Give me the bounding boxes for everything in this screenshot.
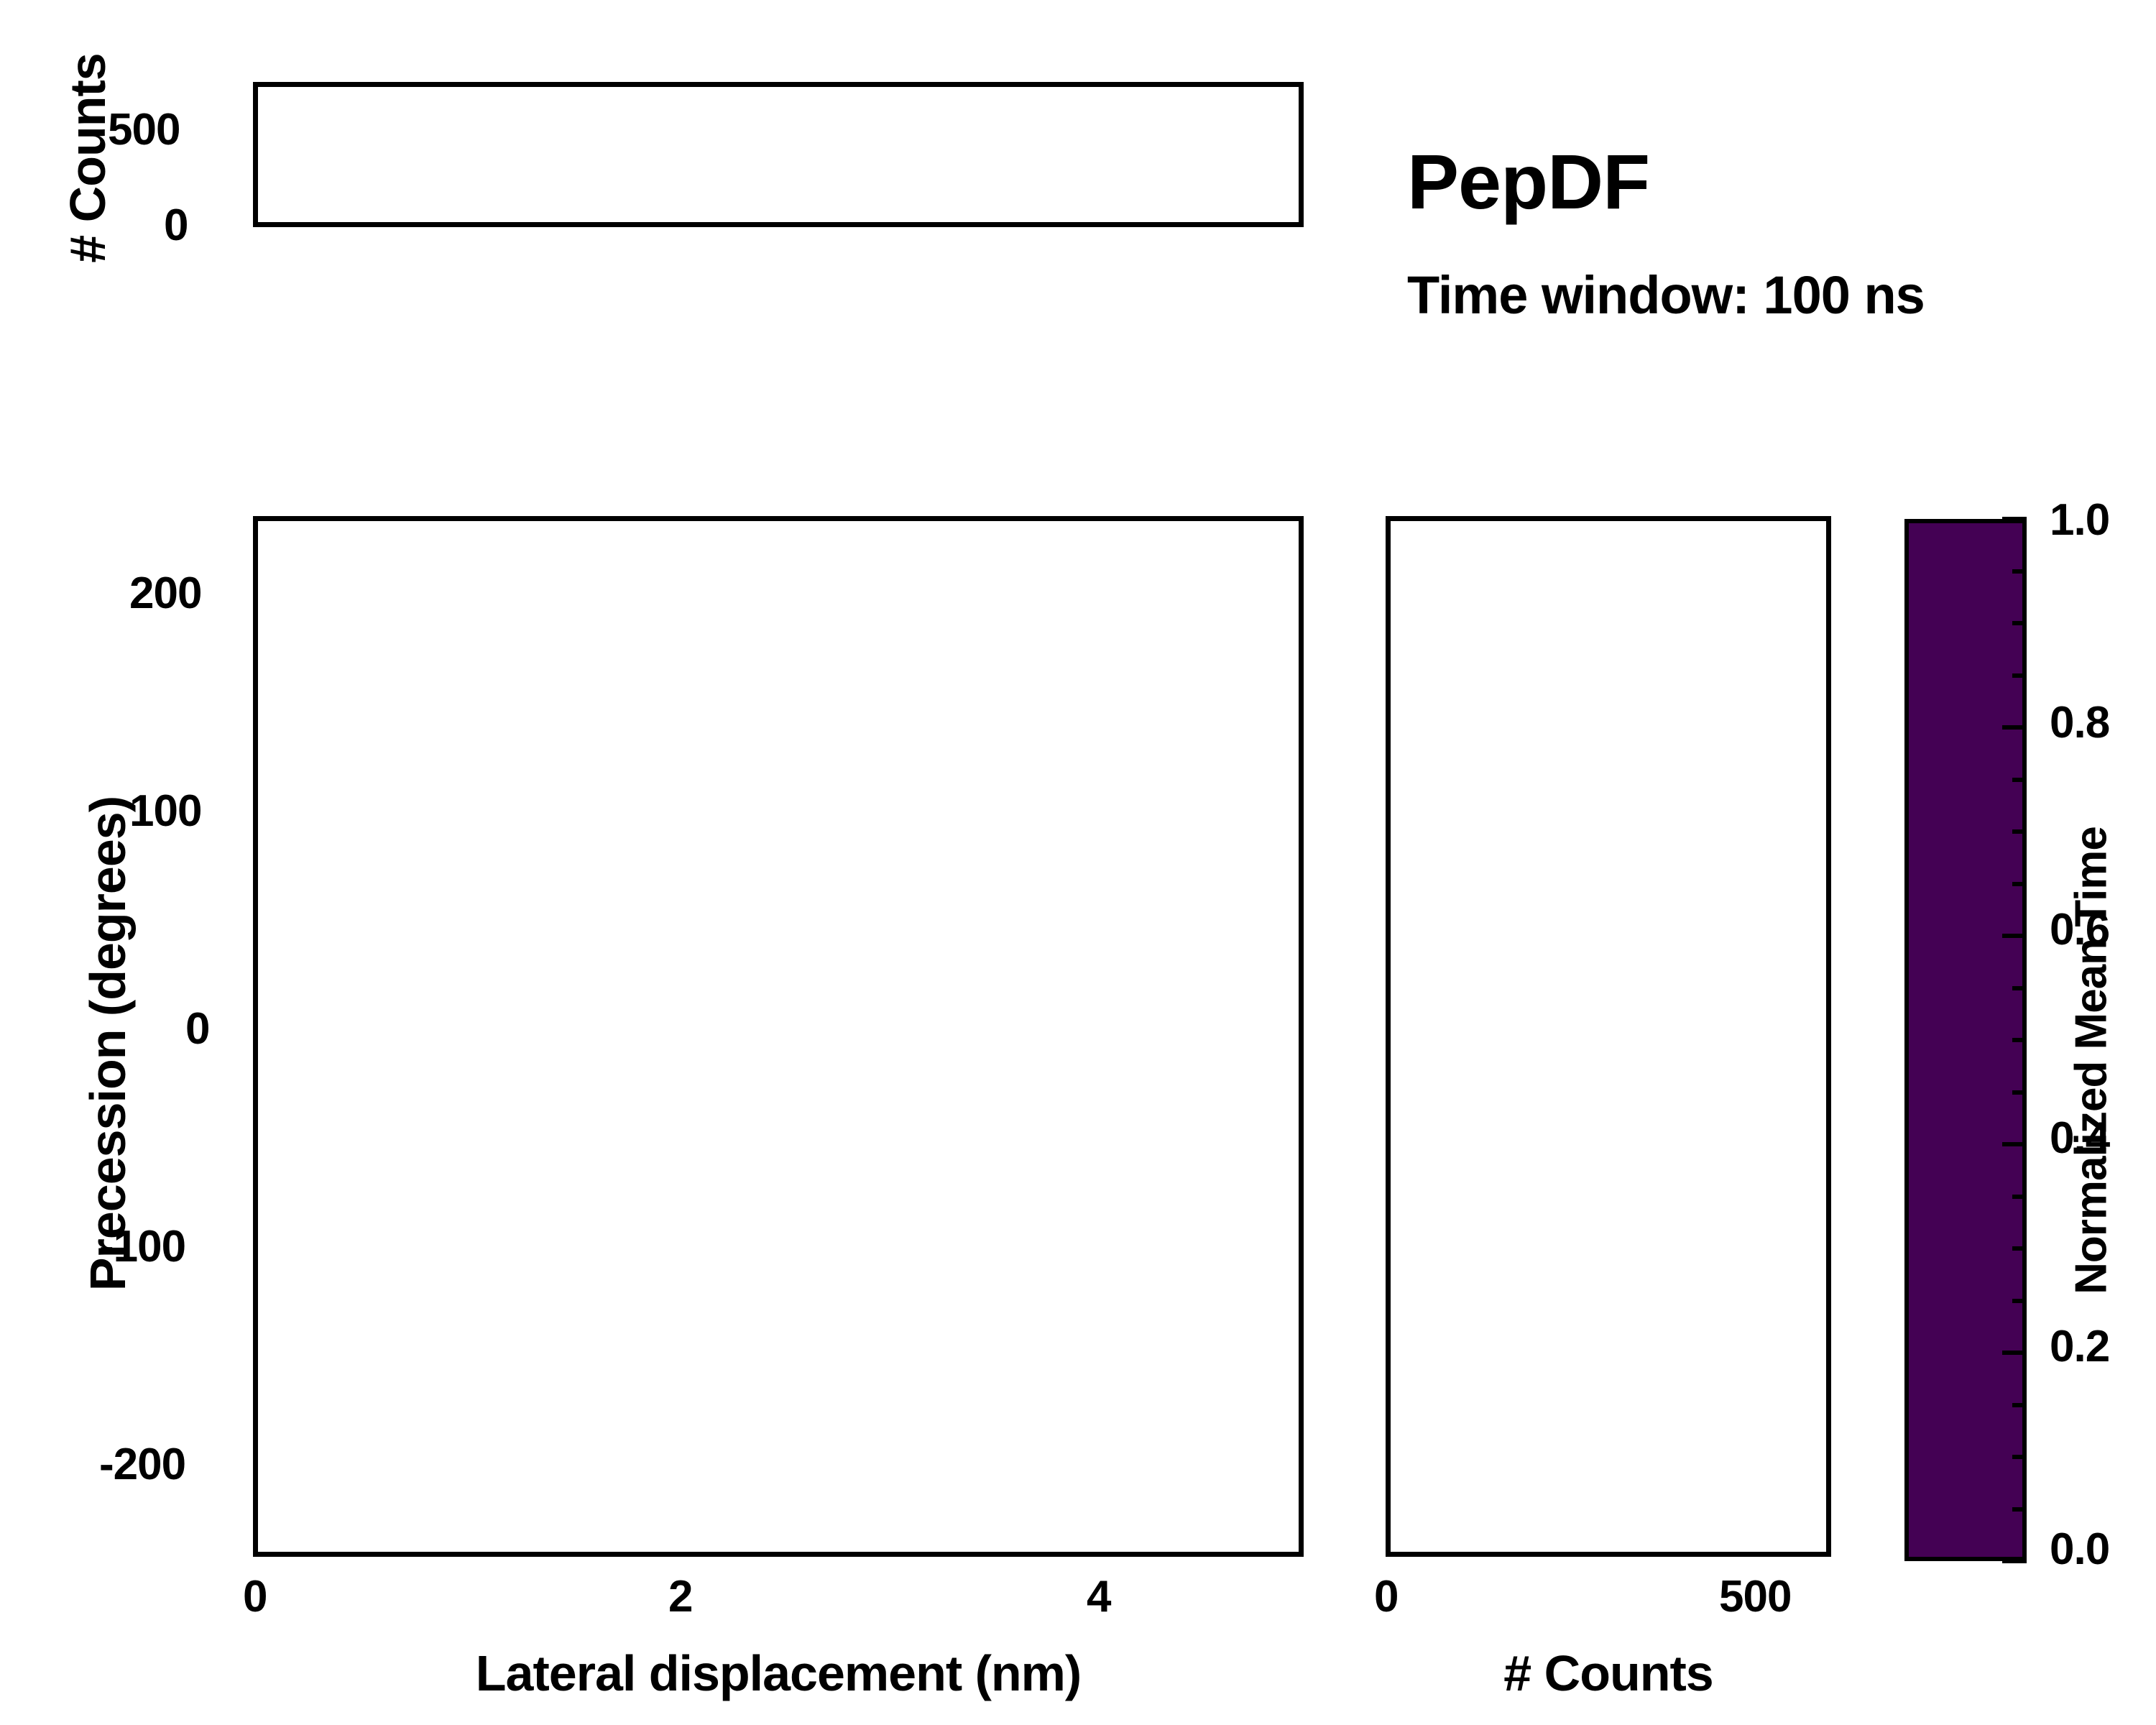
right-histogram-panel [1386, 516, 1831, 1557]
colorbar-tickmark [2012, 1246, 2027, 1251]
colorbar-tick-1-0: 1.0 [2050, 494, 2109, 546]
main-ylabel: Precession (degrees) [79, 505, 137, 1583]
colorbar-tickmark [2012, 778, 2027, 782]
joint-heatmap-canvas [258, 521, 1299, 1552]
right-histogram-xlabel: # Counts [1386, 1644, 1831, 1702]
colorbar-label: Normalized Mean Time [2066, 630, 2117, 1492]
colorbar-tickmark [2012, 986, 2027, 990]
main-xtick-2: 2 [668, 1571, 692, 1622]
colorbar-tickmark [2012, 1038, 2027, 1042]
top-histogram-ylabel: # Counts [59, 43, 116, 273]
colorbar-tickmark [2012, 1090, 2027, 1095]
top-histogram-panel [253, 82, 1304, 227]
colorbar-tickmark [2012, 673, 2027, 678]
colorbar-tickmark [2012, 621, 2027, 625]
colorbar-tickmark [2002, 725, 2027, 730]
main-heatmap-panel [253, 516, 1304, 1557]
right-hist-xtick-0: 0 [1374, 1571, 1398, 1622]
page-title: PepDF [1407, 137, 1649, 226]
colorbar [1904, 519, 2027, 1561]
colorbar-gradient [1909, 523, 2022, 1557]
colorbar-tickmark [2002, 934, 2027, 938]
main-ytick-0: 0 [185, 1003, 209, 1054]
colorbar-tickmark [2012, 1195, 2027, 1199]
top-hist-ytick-0: 0 [164, 200, 188, 251]
colorbar-tick-0-0: 0.0 [2050, 1524, 2109, 1575]
main-xtick-0: 0 [243, 1571, 267, 1622]
main-ytick-200: 200 [129, 568, 201, 619]
right-histogram-canvas [1391, 521, 1826, 1552]
colorbar-tickmark [2002, 1559, 2027, 1563]
right-hist-xtick-500: 500 [1719, 1571, 1791, 1622]
main-xlabel: Lateral displacement (nm) [253, 1644, 1304, 1702]
colorbar-tickmark [2012, 1507, 2027, 1512]
colorbar-tickmark [2012, 1455, 2027, 1459]
page-subtitle: Time window: 100 ns [1407, 264, 1925, 326]
colorbar-tickmark [2012, 1403, 2027, 1407]
top-hist-ytick-500: 500 [108, 104, 180, 155]
top-histogram-canvas [258, 87, 1299, 222]
figure-root: 500 0 # Counts 200 100 0 -100 -200 0 2 4… [0, 0, 2156, 1725]
colorbar-tickmark [2012, 829, 2027, 834]
main-ytick-100: 100 [129, 786, 201, 837]
colorbar-tickmark [2012, 1299, 2027, 1303]
colorbar-tickmark [2012, 882, 2027, 886]
colorbar-tickmark [2002, 1351, 2027, 1355]
colorbar-tickmark [2012, 569, 2027, 574]
colorbar-tickmark [2002, 517, 2027, 521]
main-xtick-4: 4 [1087, 1571, 1110, 1622]
colorbar-tickmark [2002, 1142, 2027, 1146]
